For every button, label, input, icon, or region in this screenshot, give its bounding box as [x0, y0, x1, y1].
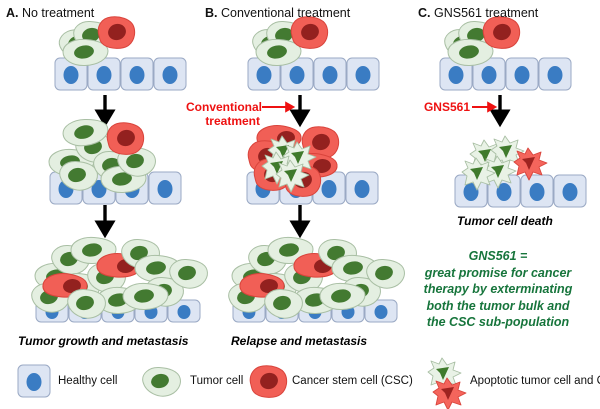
panel-letter-a: A.	[6, 6, 22, 20]
panel-A-stage1	[55, 17, 186, 90]
legend-label-csc: Cancer stem cell (CSC)	[292, 375, 413, 387]
panel-letter-c: C.	[418, 6, 434, 20]
panel-title-a: A. No treatment	[6, 6, 94, 20]
caption-panel-c: Tumor cell death	[457, 214, 553, 228]
figure-canvas: A. No treatment B. Conventional treatmen…	[0, 0, 600, 409]
caption-panel-a: Tumor growth and metastasis	[18, 334, 188, 348]
panel-letter-b: B.	[205, 6, 221, 20]
panel-title-text-c: GNS561 treatment	[434, 6, 538, 20]
conclusion-line-2: great promise for cancer	[400, 265, 596, 282]
panel-title-text-a: No treatment	[22, 6, 94, 20]
tumor-cluster-small	[58, 17, 135, 66]
conclusion-block: GNS561 = great promise for cancer therap…	[400, 248, 596, 331]
tumor-mass-medium	[49, 117, 155, 192]
panel-B-artwork	[229, 17, 405, 322]
panel-C-stage1	[440, 17, 571, 90]
conclusion-line-5: the CSC sub-population	[400, 314, 596, 331]
panel-B-stage3	[229, 237, 405, 322]
panel-B-stage1	[248, 17, 379, 90]
treatment-label-line1: Conventional	[186, 100, 260, 114]
legend-item-tumor-cell: Tumor cell	[190, 375, 243, 387]
panel-title-c: C. GNS561 treatment	[418, 6, 538, 20]
conclusion-line-4: both the tumor bulk and	[400, 298, 596, 315]
panel-A-stage3	[32, 237, 208, 322]
legend: Healthy cell Tumor cell Cancer stem cell…	[0, 360, 600, 409]
caption-panel-b: Relapse and metastasis	[231, 334, 367, 348]
legend-label-apoptotic: Apoptotic tumor cell and CSC	[470, 375, 600, 387]
legend-label-tumor-cell: Tumor cell	[190, 375, 243, 387]
treatment-label-conventional: Conventional treatment	[186, 100, 260, 128]
legend-item-healthy-cell: Healthy cell	[58, 375, 117, 387]
legend-item-apoptotic: Apoptotic tumor cell and CSC	[470, 375, 600, 387]
conclusion-line-1: GNS561 =	[400, 248, 596, 265]
panel-title-b: B. Conventional treatment	[205, 6, 350, 20]
conclusion-line-3: therapy by exterminating	[400, 281, 596, 298]
panel-A-stage2	[49, 117, 181, 204]
panel-A-artwork	[32, 17, 208, 322]
treatment-label-gns561: GNS561	[414, 100, 470, 114]
legend-label-healthy-cell: Healthy cell	[58, 375, 117, 387]
panel-C-stage2	[455, 136, 586, 207]
panel-B-stage2	[247, 126, 378, 204]
legend-item-csc: Cancer stem cell (CSC)	[292, 375, 413, 387]
panel-title-text-b: Conventional treatment	[221, 6, 350, 20]
treatment-label-line2: treatment	[186, 114, 260, 128]
